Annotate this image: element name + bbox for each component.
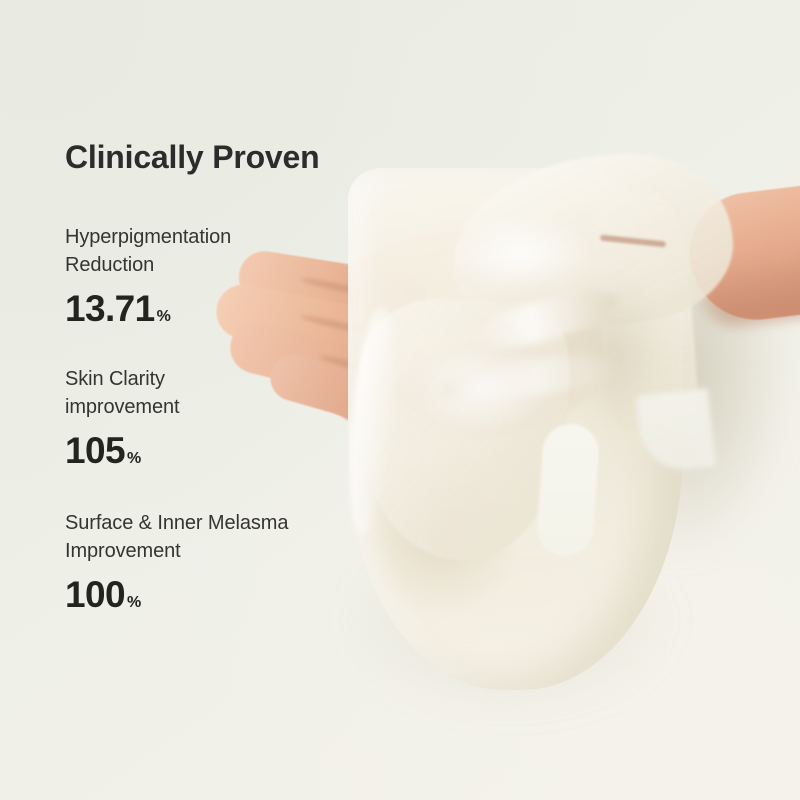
text-overlay: Clinically Proven Hyperpigmentation Redu… [0, 0, 800, 800]
stat-value-group: 13.71 % [65, 288, 231, 330]
stat-number: 105 [65, 430, 125, 472]
stat-label: Hyperpigmentation Reduction [65, 224, 231, 279]
stat-value-group: 100 % [65, 574, 288, 616]
stat-skin-clarity-improvement: Skin Clarity improvement 105 % [65, 366, 180, 472]
stat-unit: % [127, 450, 141, 468]
stat-label: Surface & Inner Melasma Improvement [65, 510, 288, 565]
page-title: Clinically Proven [65, 139, 319, 176]
stat-unit: % [157, 308, 171, 326]
stat-unit: % [127, 594, 141, 612]
stat-number: 13.71 [65, 288, 155, 330]
stat-melasma-improvement: Surface & Inner Melasma Improvement 100 … [65, 510, 288, 616]
stat-number: 100 [65, 574, 125, 616]
stat-value-group: 105 % [65, 430, 180, 472]
stat-label: Skin Clarity improvement [65, 366, 180, 421]
promo-card: Clinically Proven Hyperpigmentation Redu… [0, 0, 800, 800]
stat-hyperpigmentation-reduction: Hyperpigmentation Reduction 13.71 % [65, 224, 231, 330]
